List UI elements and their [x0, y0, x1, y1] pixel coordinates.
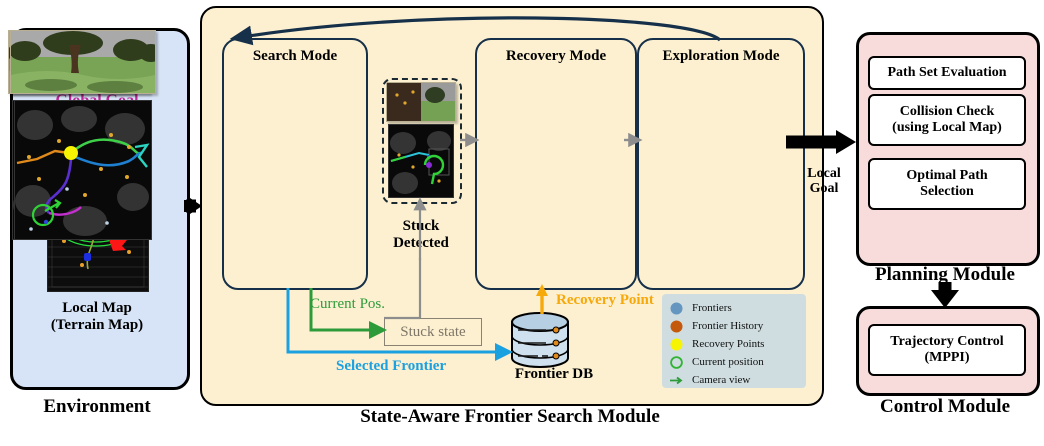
trajectory-control-line2: (MPPI) — [924, 350, 969, 365]
exploration-mode-camera-image — [10, 30, 156, 94]
planning-module-title: Planning Module — [856, 264, 1034, 286]
path-set-evaluation-box[interactable]: Path Set Evaluation — [868, 56, 1026, 90]
legend-label: Frontiers — [692, 299, 732, 317]
recovery-mode-title: Recovery Mode — [477, 48, 635, 65]
optimal-path-line1: Optimal Path — [906, 168, 987, 183]
search-mode-title: Search Mode — [224, 48, 366, 65]
environment-title: Environment — [10, 396, 184, 418]
local-goal-line2: Goal — [810, 181, 839, 196]
collision-check-line1: Collision Check — [900, 104, 995, 119]
exploration-mode-title: Exploration Mode — [639, 48, 803, 65]
state-aware-module-title: State-Aware Frontier Search Module — [200, 406, 820, 428]
trajectory-control-box[interactable]: Trajectory Control (MPPI) — [868, 324, 1026, 376]
path-set-evaluation-label: Path Set Evaluation — [887, 65, 1006, 81]
local-map-caption: Local Map (Terrain Map) — [10, 300, 184, 334]
legend-label: Camera view — [692, 371, 750, 389]
frontier-history-circle-icon — [670, 320, 683, 333]
local-map-caption-line2: (Terrain Map) — [51, 317, 143, 333]
stuck-occupancy-map — [388, 124, 454, 198]
optimal-path-line2: Selection — [920, 184, 974, 199]
recovery-point-label: Recovery Point — [556, 292, 654, 309]
frontier-db-label: Frontier DB — [494, 366, 614, 383]
exploration-mode-occupancy-map — [14, 100, 152, 240]
stuck-detected-line1: Stuck — [403, 218, 440, 234]
exploration-mode-panel[interactable]: Exploration Mode — [637, 38, 805, 290]
search-mode-panel[interactable]: Search Mode — [222, 38, 368, 290]
stuck-state-box: Stuck state — [384, 318, 482, 346]
camera-view-arrow-icon — [670, 374, 683, 387]
current-pos-label: Current Pos. — [310, 296, 385, 313]
legend-label: Frontier History — [692, 317, 763, 335]
stuck-state-label: Stuck state — [385, 319, 481, 345]
trajectory-control-line1: Trajectory Control — [890, 334, 1003, 349]
legend-box: Frontiers Frontier History Recovery Poin… — [662, 294, 806, 388]
collision-check-line2: (using Local Map) — [892, 120, 1002, 135]
frontiers-circle-icon — [670, 302, 683, 315]
stuck-camera-image — [386, 82, 456, 122]
control-module-title: Control Module — [856, 396, 1034, 418]
recovery-points-circle-icon — [670, 338, 683, 351]
collision-check-box[interactable]: Collision Check (using Local Map) — [868, 94, 1026, 146]
legend-label: Recovery Points — [692, 335, 764, 353]
frontier-db-icon — [510, 312, 570, 368]
stuck-detected-label: Stuck Detected — [370, 218, 472, 251]
local-goal-line1: Local — [807, 166, 840, 181]
optimal-path-selection-box[interactable]: Optimal Path Selection — [868, 158, 1026, 210]
local-map-caption-line1: Local Map — [62, 300, 132, 316]
local-goal-label: Local Goal — [796, 166, 852, 197]
recovery-mode-panel[interactable]: Recovery Mode — [475, 38, 637, 290]
stuck-detected-line2: Detected — [393, 235, 449, 251]
legend-label: Current position — [692, 353, 764, 371]
current-position-circle-icon — [670, 356, 683, 369]
selected-frontier-label: Selected Frontier — [336, 358, 446, 375]
